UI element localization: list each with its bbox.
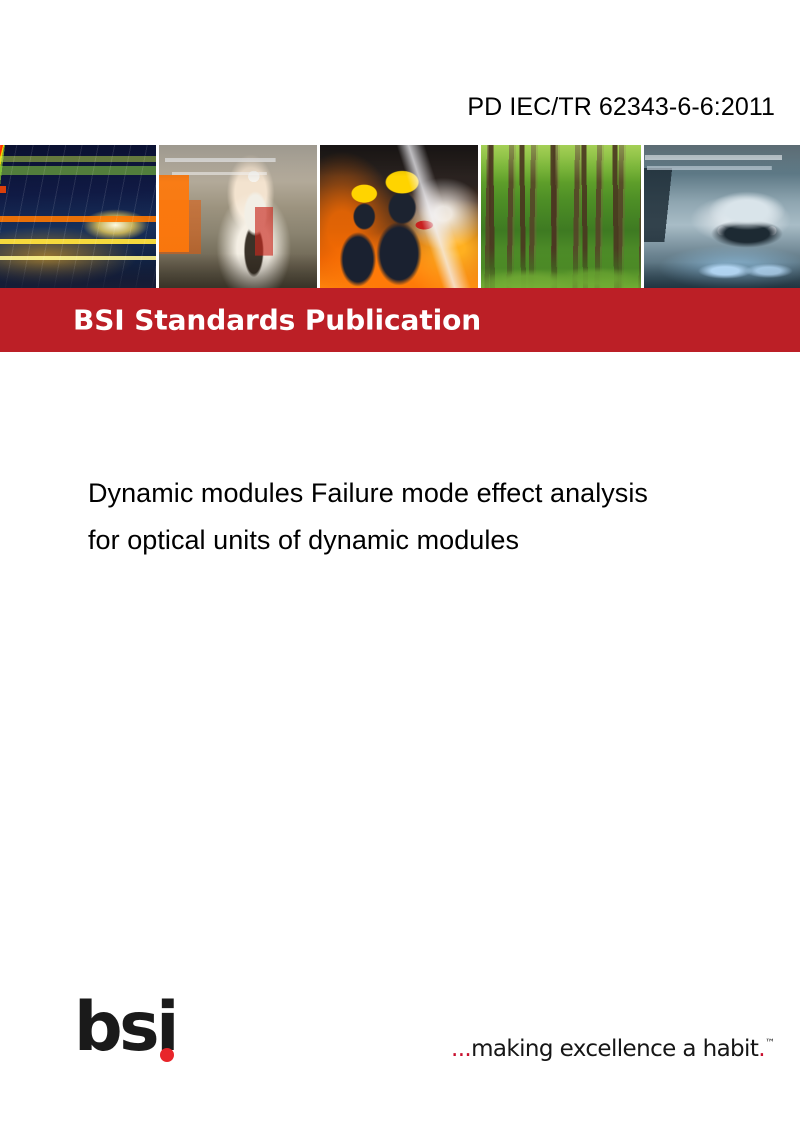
tagline-leading-ellipsis: ... [451,1036,471,1062]
photo-panel-automotive-assembly-line [644,145,800,288]
publication-type-banner: BSI Standards Publication [0,288,800,352]
page-title: Dynamic modules Failure mode effect anal… [88,470,788,564]
bsi-logo-dot-icon [160,1048,174,1062]
tagline-period: . [758,1036,765,1062]
photo-panel-firefighters-extinguishing-flames [320,145,478,288]
page-title-line-2: for optical units of dynamic modules [88,517,788,564]
bsi-logo: bsi [74,1000,194,1070]
photo-panel-warehouse-logistics-worker [159,145,317,288]
publication-type-label: BSI Standards Publication [73,304,481,337]
cover-photo-strip [0,145,800,288]
bsi-tagline: ...making excellence a habit.™ [451,1036,775,1062]
trademark-icon: ™ [765,1038,775,1049]
page-title-line-1: Dynamic modules Failure mode effect anal… [88,470,788,517]
tagline-text: making excellence a habit [471,1036,758,1062]
standard-reference-number: PD IEC/TR 62343-6-6:2011 [467,93,775,122]
photo-panel-forest-tree-trunks [481,145,641,288]
photo-panel-night-traffic-light-trails [0,145,156,288]
